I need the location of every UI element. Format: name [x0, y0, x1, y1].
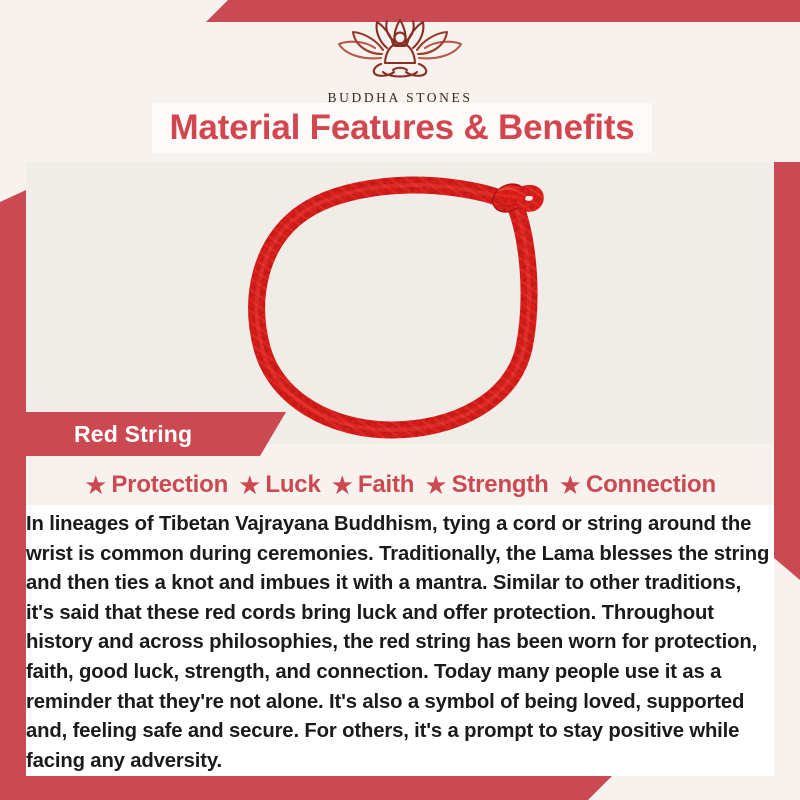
benefit-label-strength: Strength: [452, 471, 549, 499]
benefit-label-faith: Faith: [358, 471, 414, 499]
benefits-list: ★ Protection ★ Luck ★ Faith ★ Strength ★…: [26, 464, 774, 506]
brand-logo: BUDDHA STONES: [0, 14, 800, 106]
star-icon: ★: [84, 472, 107, 498]
product-label: Red String: [74, 421, 192, 448]
benefit-item-faith: ★ Faith: [331, 471, 415, 499]
red-string-bracelet-image: [206, 162, 586, 444]
benefit-label-protection: Protection: [111, 471, 228, 499]
product-photo: [26, 162, 774, 444]
title-banner: Material Features & Benefits: [152, 103, 652, 153]
star-icon: ★: [331, 472, 354, 498]
benefit-label-luck: Luck: [265, 471, 320, 499]
description-paragraph: In lineages of Tibetan Vajrayana Buddhis…: [26, 510, 770, 776]
benefit-item-strength: ★ Strength: [424, 471, 548, 499]
product-label-ribbon: Red String: [26, 412, 286, 456]
benefit-label-connection: Connection: [586, 471, 716, 499]
star-icon: ★: [424, 472, 447, 498]
page-title: Material Features & Benefits: [169, 108, 634, 148]
decor-band-left: [0, 190, 26, 790]
star-icon: ★: [238, 472, 261, 498]
infographic-poster: BUDDHA STONES Material Features & Benefi…: [0, 0, 800, 800]
benefit-item-connection: ★ Connection: [559, 471, 716, 499]
lotus-meditation-figure-icon: [325, 14, 475, 88]
star-icon: ★: [559, 472, 582, 498]
benefit-item-protection: ★ Protection: [84, 471, 228, 499]
decor-band-bottom: [0, 776, 800, 800]
benefit-item-luck: ★ Luck: [238, 471, 321, 499]
